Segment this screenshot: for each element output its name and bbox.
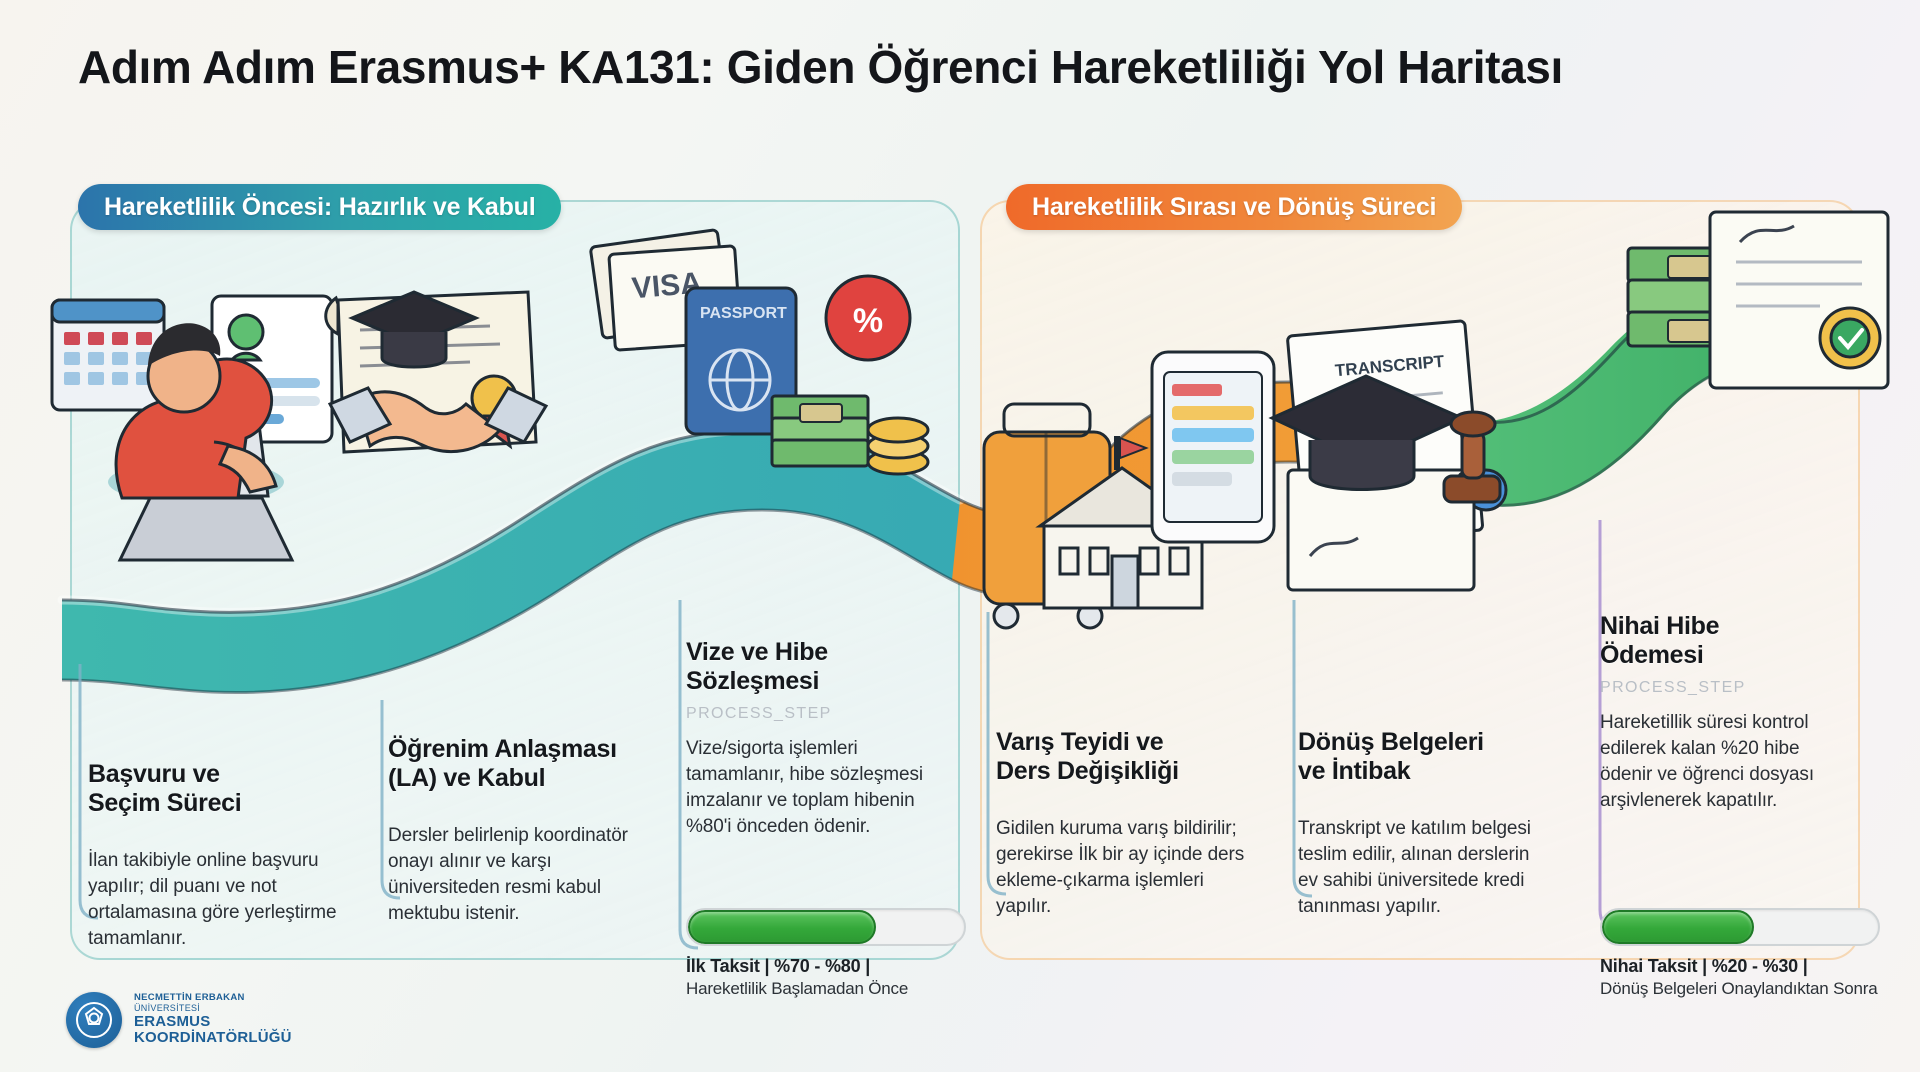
first-installment-caption-main: İlk Taksit | %70 - %80 |: [686, 956, 966, 977]
step-6-title: Nihai HibeÖdemesi: [1600, 612, 1852, 670]
payment-first-installment: İlk Taksit | %70 - %80 | Hareketlilik Ba…: [686, 908, 966, 999]
first-installment-progress-fill: [688, 910, 876, 944]
step-2-body: Dersler belirlenip koordinatör onayı alı…: [388, 823, 640, 927]
step-card-4: Varış Teyidi veDers Değişikliği Gidilen …: [996, 728, 1248, 920]
step-card-5: Dönüş Belgelerive İntibak Transkript ve …: [1298, 728, 1550, 920]
final-installment-caption-main: Nihai Taksit | %20 - %30 |: [1600, 956, 1880, 977]
page-title: Adım Adım Erasmus+ KA131: Giden Öğrenci …: [78, 40, 1563, 94]
first-installment-progress-bar[interactable]: [686, 908, 966, 946]
final-installment-progress-fill: [1602, 910, 1754, 944]
step-card-2: Öğrenim Anlaşması(LA) ve Kabul Dersler b…: [388, 735, 640, 927]
logo-line-1: NECMETTİN ERBAKAN: [134, 993, 292, 1004]
phase-label-pre-mobility: Hareketlilik Öncesi: Hazırlık ve Kabul: [78, 184, 561, 230]
step-card-1: Başvuru veSeçim Süreci İlan takibiyle on…: [88, 760, 340, 952]
step-2-title: Öğrenim Anlaşması(LA) ve Kabul: [388, 735, 640, 793]
step-3-body: Vize/sigorta işlemleri tamamlanır, hibe …: [686, 736, 938, 840]
step-3-kicker: PROCESS_STEP: [686, 705, 938, 723]
step-card-6: Nihai HibeÖdemesi PROCESS_STEP Hareketil…: [1600, 612, 1852, 814]
step-6-kicker: PROCESS_STEP: [1600, 679, 1852, 697]
first-installment-caption-sub: Hareketlilik Başlamadan Önce: [686, 979, 966, 999]
step-card-3: Vize ve HibeSözleşmesi PROCESS_STEP Vize…: [686, 638, 938, 840]
final-installment-progress-bar[interactable]: [1600, 908, 1880, 946]
logo-line-3: ERASMUS: [134, 1014, 292, 1031]
final-installment-caption-sub: Dönüş Belgeleri Onaylandıktan Sonra: [1600, 979, 1880, 999]
step-4-body: Gidilen kuruma varış bildirilir; gerekir…: [996, 816, 1248, 920]
step-1-body: İlan takibiyle online başvuru yapılır; d…: [88, 848, 340, 952]
logo-line-4: KOORDİNATÖRLÜĞÜ: [134, 1030, 292, 1047]
step-5-body: Transkript ve katılım belgesi teslim edi…: [1298, 816, 1550, 920]
step-6-body: Hareketillik süresi kontrol edilerek kal…: [1600, 710, 1852, 814]
step-1-title: Başvuru veSeçim Süreci: [88, 760, 340, 818]
university-seal-icon: [66, 992, 122, 1048]
infographic-canvas: VISA PASSPORT %: [0, 0, 1920, 1072]
phase-label-during-mobility: Hareketlilik Sırası ve Dönüş Süreci: [1006, 184, 1462, 230]
step-5-title: Dönüş Belgelerive İntibak: [1298, 728, 1550, 786]
step-3-title: Vize ve HibeSözleşmesi: [686, 638, 938, 696]
erasmus-coordinator-logo: NECMETTİN ERBAKAN ÜNİVERSİTESİ ERASMUS K…: [66, 992, 292, 1048]
payment-final-installment: Nihai Taksit | %20 - %30 | Dönüş Belgele…: [1600, 908, 1880, 999]
step-4-title: Varış Teyidi veDers Değişikliği: [996, 728, 1248, 786]
